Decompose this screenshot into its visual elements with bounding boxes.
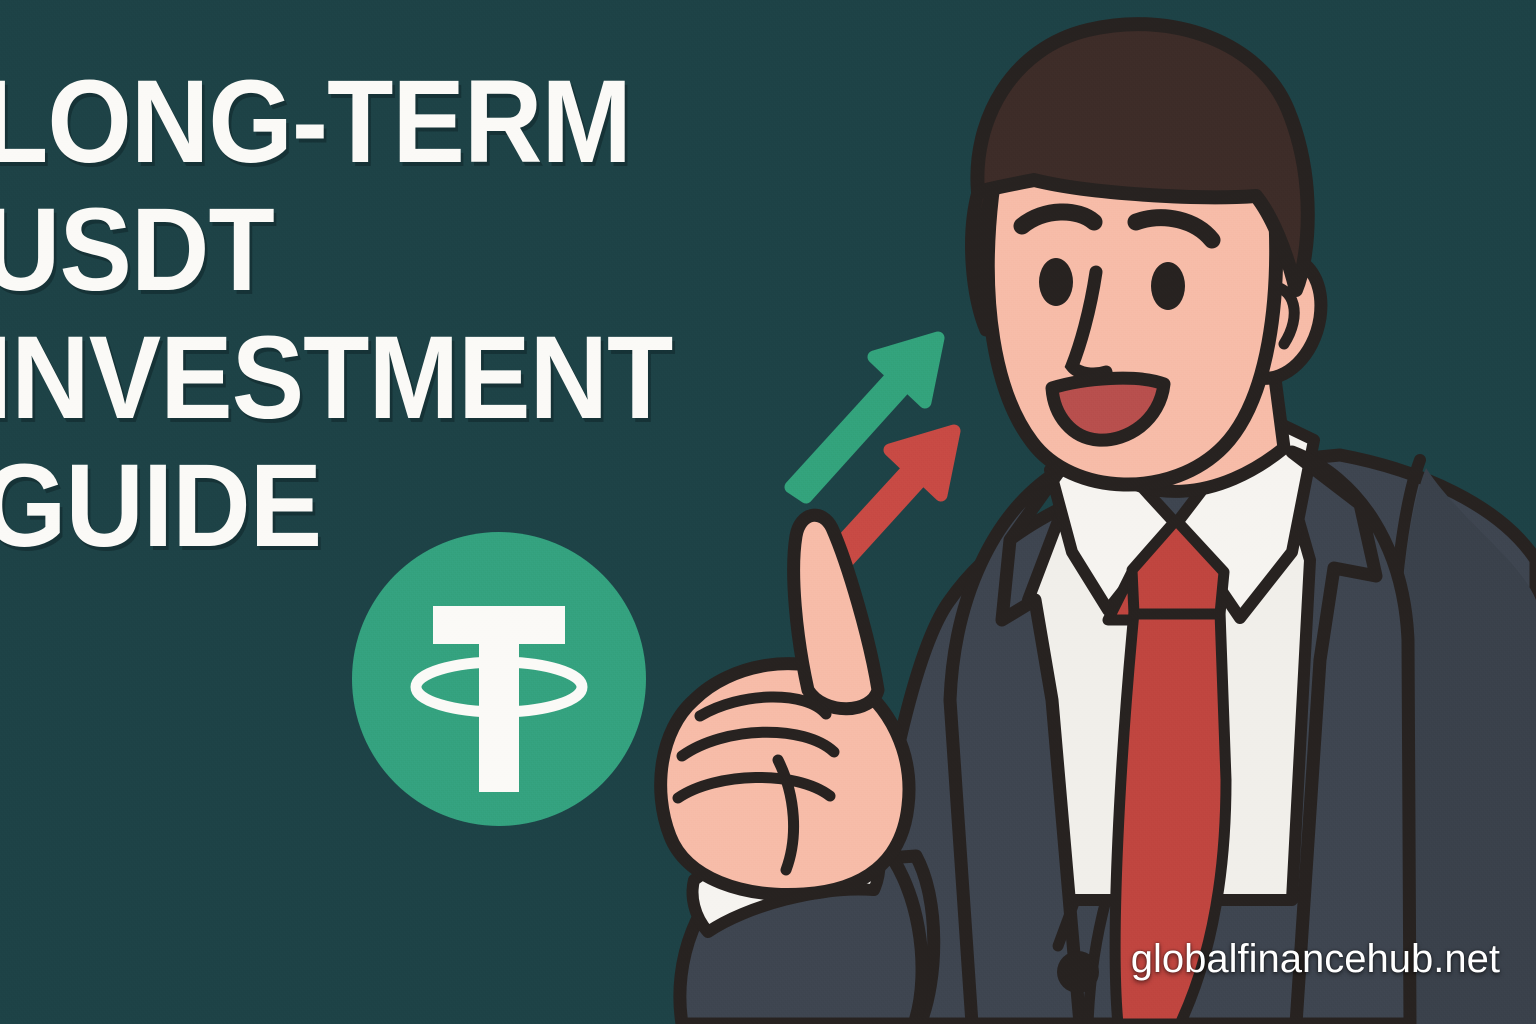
headline-line-2: USDT (0, 186, 773, 314)
site-url-watermark: globalfinancehub.net (1131, 937, 1500, 982)
tether-t-stem-upper (479, 644, 519, 679)
suit-button (1057, 951, 1099, 993)
thumbnail-canvas: LONG-TERM USDT INVESTMENT GUIDE (0, 0, 1536, 1024)
eye-left (1039, 258, 1073, 306)
hair-sideburn (972, 192, 992, 330)
tether-t-stem-lower (479, 697, 519, 792)
pointing-hand (661, 515, 909, 894)
headline-line-4: GUIDE (0, 442, 773, 570)
tether-logo-svg (351, 531, 647, 827)
tether-usdt-logo (351, 531, 647, 827)
headline-line-3: INVESTMENT (0, 314, 773, 442)
headline-block: LONG-TERM USDT INVESTMENT GUIDE (0, 58, 842, 570)
eye-right (1151, 262, 1185, 310)
headline-line-1: LONG-TERM (0, 58, 773, 186)
